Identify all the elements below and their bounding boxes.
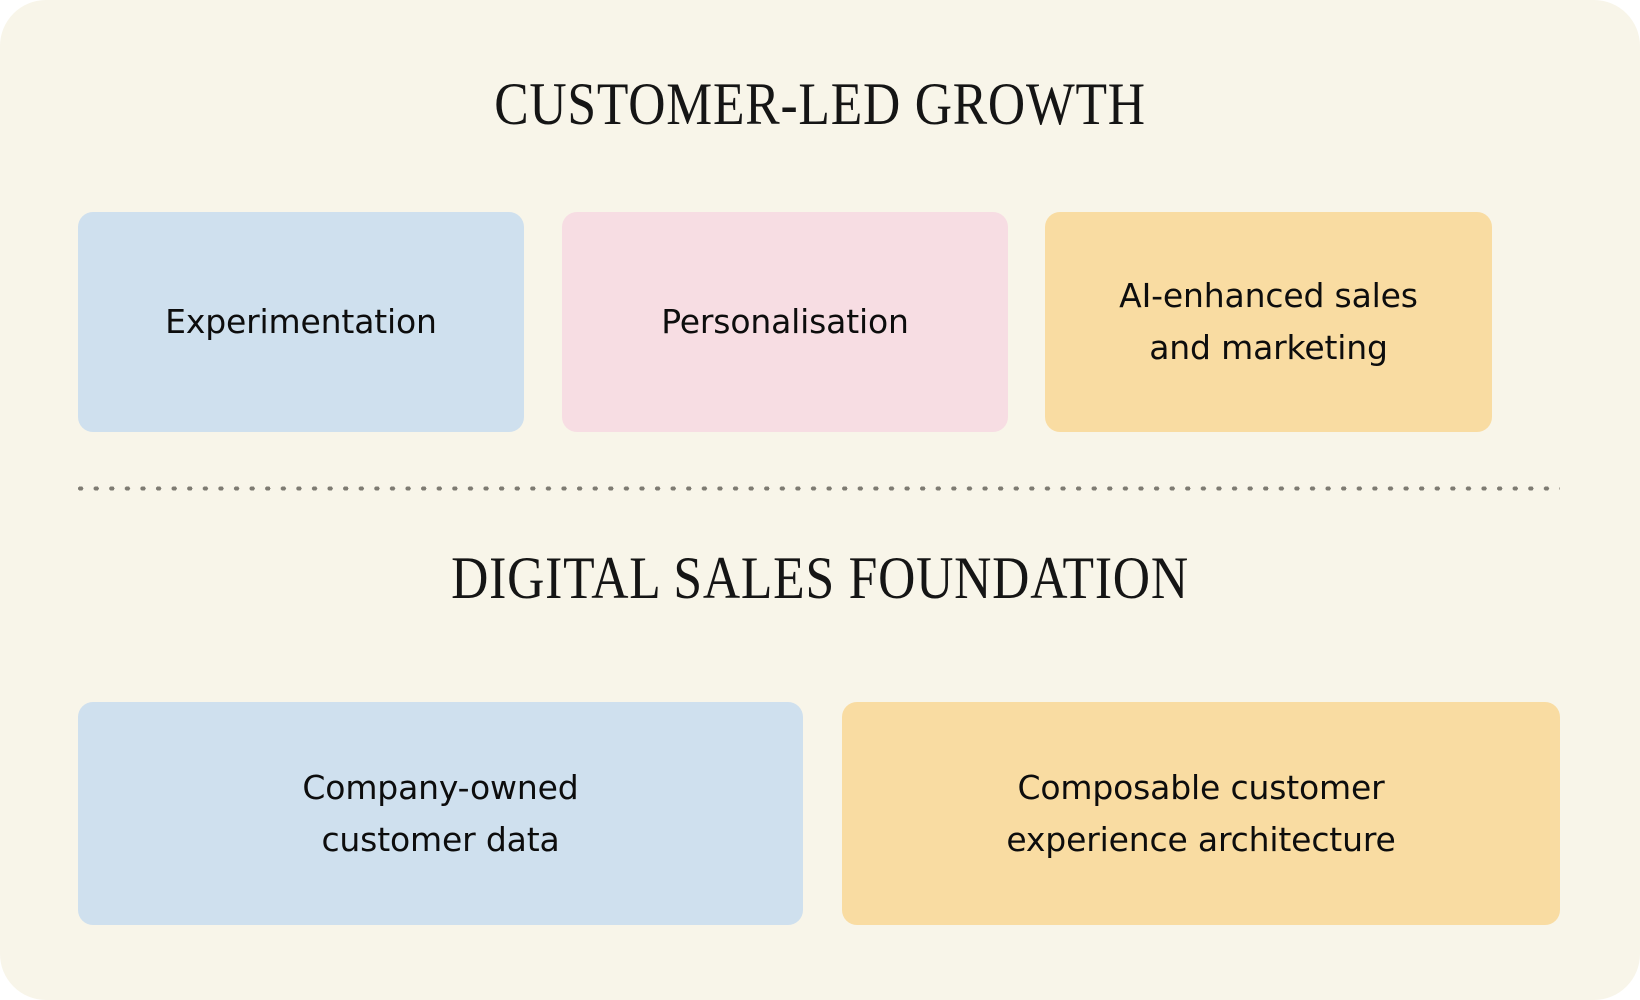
card-label-experimentation: Experimentation [165, 296, 437, 348]
card-company-owned-customer-data: Company-owned customer data [78, 702, 803, 925]
card-personalisation: Personalisation [562, 212, 1008, 432]
diagram-canvas: CUSTOMER-LED GROWTH Experimentation Pers… [0, 0, 1640, 1000]
card-label-personalisation: Personalisation [661, 296, 909, 348]
card-label-company-owned-customer-data: Company-owned customer data [302, 762, 578, 866]
section-title-customer-led-growth: CUSTOMER-LED GROWTH [115, 68, 1525, 140]
card-composable-customer-experience-architecture: Composable customer experience architect… [842, 702, 1560, 925]
card-ai-enhanced-sales-and-marketing: AI-enhanced sales and marketing [1045, 212, 1492, 432]
card-experimentation: Experimentation [78, 212, 524, 432]
section-title-digital-sales-foundation: DIGITAL SALES FOUNDATION [115, 542, 1525, 614]
dotted-divider [78, 486, 1560, 491]
card-label-composable-customer-experience-architecture: Composable customer experience architect… [1006, 762, 1395, 866]
card-label-ai-enhanced-sales-and-marketing: AI-enhanced sales and marketing [1119, 270, 1418, 374]
